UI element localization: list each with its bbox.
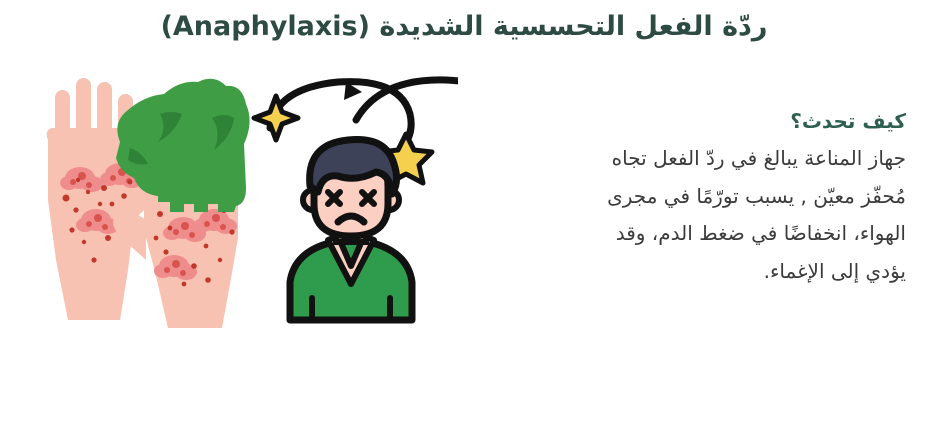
sparkle-star-icon <box>254 96 298 140</box>
body-line: الهواء، انخفاضًا في ضغط الدم، وقد <box>486 215 906 253</box>
body-line: جهاز المناعة يبالغ في ردّ الفعل تجاه <box>486 140 906 178</box>
how-it-happens-section: كيف تحدث؟ جهاز المناعة يبالغ في ردّ الفع… <box>486 108 906 290</box>
body-line: مُحفّز معيّن , يسبب تورّمًا في مجرى <box>486 178 906 216</box>
infographic-page: ردّة الفعل التحسسية الشديدة (Anaphylaxis… <box>0 0 928 446</box>
body-line: يؤدي إلى الإغماء. <box>486 253 906 291</box>
page-title: ردّة الفعل التحسسية الشديدة (Anaphylaxis… <box>0 10 928 44</box>
section-subheading: كيف تحدث؟ <box>486 108 906 134</box>
dizzy-person-figure <box>254 80 458 320</box>
x-eye-left <box>328 192 340 204</box>
anaphylaxis-illustration <box>8 70 458 340</box>
x-eye-right <box>362 192 374 204</box>
